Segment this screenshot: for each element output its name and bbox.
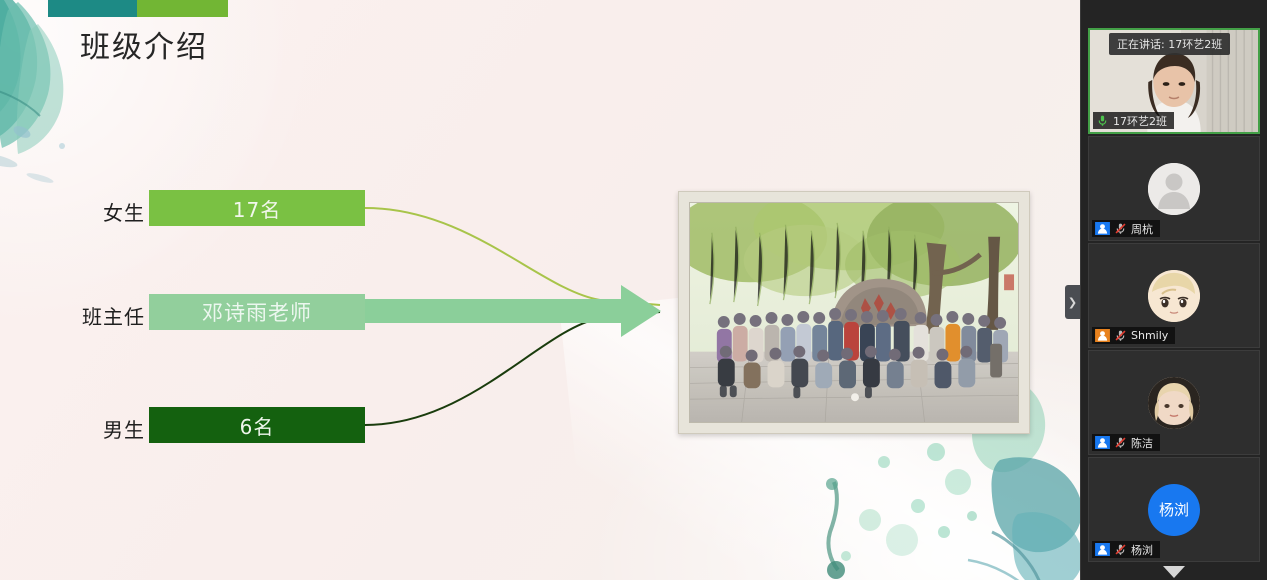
avatar-image	[1148, 270, 1200, 322]
class-photo	[689, 202, 1019, 423]
speaking-tooltip: 正在讲话: 17环艺2班	[1109, 33, 1230, 55]
participant-tile-4[interactable]: 陈洁	[1088, 350, 1260, 455]
user-badge-icon	[1095, 543, 1110, 556]
class-photo-frame	[678, 191, 1030, 434]
accent-bar-teal-segment	[48, 0, 137, 17]
row-label-boys: 男生	[55, 414, 145, 443]
participant-name-badge: Shmily	[1092, 327, 1175, 344]
participant-name: Shmily	[1131, 329, 1168, 342]
bar-girls: 17名	[149, 190, 365, 226]
participant-tile-2[interactable]: 周杭	[1088, 136, 1260, 241]
title-accent-bar	[48, 0, 228, 17]
row-label-girls: 女生	[55, 197, 145, 226]
bar-teacher: 邓诗雨老师	[149, 294, 365, 330]
participant-name-badge: 杨浏	[1092, 541, 1160, 558]
participant-name-badge: 陈洁	[1092, 434, 1160, 451]
avatar-image	[1148, 377, 1200, 429]
photo-avatar-icon	[1148, 377, 1200, 429]
class-photo-image	[690, 203, 1018, 422]
slide-title: 班级介绍	[80, 22, 208, 66]
mic-off-icon	[1114, 436, 1127, 449]
mic-on-icon	[1096, 114, 1109, 127]
avatar-initials-text: 杨浏	[1159, 499, 1189, 520]
participant-name: 陈洁	[1131, 435, 1153, 451]
video-participants-panel[interactable]: 正在讲话: 17环艺2班	[1080, 0, 1267, 580]
user-badge-icon	[1095, 329, 1110, 342]
bar-boys: 6名	[149, 407, 365, 443]
participant-name-badge: 17环艺2班	[1093, 112, 1174, 129]
mic-off-icon	[1114, 329, 1127, 342]
user-badge-icon	[1095, 436, 1110, 449]
app-root: 班级介绍 女生 17名 班主任 邓诗雨老师 男生 6名	[0, 0, 1267, 580]
collapse-panel-button[interactable]: ❯	[1065, 285, 1080, 319]
accent-bar-green-segment	[137, 0, 228, 17]
person-icon	[1148, 163, 1200, 215]
chevron-right-icon: ❯	[1068, 296, 1077, 309]
participant-tile-3[interactable]: Shmily	[1088, 243, 1260, 348]
avatar-initials: 杨浏	[1148, 484, 1200, 536]
participant-name: 17环艺2班	[1113, 113, 1167, 129]
participant-tile-5[interactable]: 杨浏 杨浏	[1088, 457, 1260, 562]
participant-name: 杨浏	[1131, 542, 1153, 558]
anime-avatar-icon	[1148, 270, 1200, 322]
participant-name: 周杭	[1131, 221, 1153, 237]
participant-name-badge: 周杭	[1092, 220, 1160, 237]
avatar-placeholder	[1148, 163, 1200, 215]
row-label-teacher: 班主任	[45, 301, 145, 330]
mic-off-icon	[1114, 543, 1127, 556]
user-badge-icon	[1095, 222, 1110, 235]
chevron-down-icon[interactable]	[1163, 566, 1185, 578]
mic-off-icon	[1114, 222, 1127, 235]
presentation-slide: 班级介绍 女生 17名 班主任 邓诗雨老师 男生 6名	[0, 0, 1080, 580]
